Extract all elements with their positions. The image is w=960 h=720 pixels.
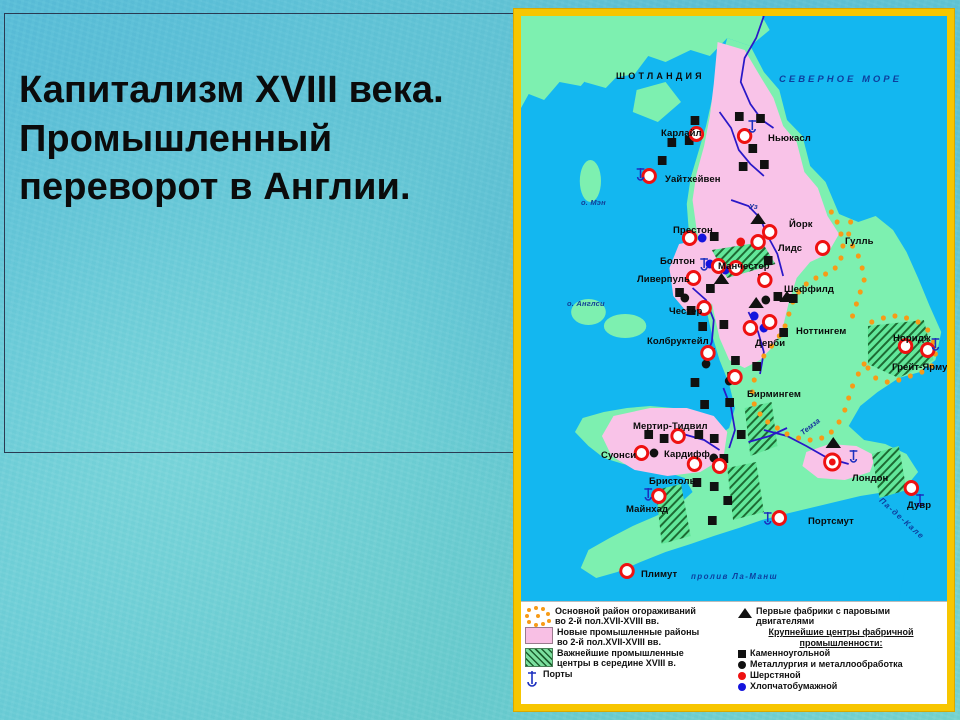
map-city-label: Суонси [601, 450, 636, 461]
map-city-label: Бристоль [649, 476, 696, 487]
legend-column-left: Основной район огораживаний во 2-й пол.X… [525, 606, 734, 701]
legend-label-cotton: Хлопчатобумажной [750, 681, 837, 691]
map-city-label: Ноттингем [796, 326, 846, 337]
green-hatch-swatch-icon [525, 648, 553, 667]
map-island-anglesey: о. Англси [567, 299, 605, 308]
map-city-label: Престон [673, 225, 713, 236]
legend-label-enclosures: Основной район огораживаний во 2-й пол.X… [555, 606, 696, 626]
cotton-circle-icon [738, 683, 746, 691]
legend-item-cotton: Хлопчатобумажной [738, 681, 944, 691]
legend-label-coal: Каменноугольной [750, 648, 830, 658]
legend-item-enclosures: Основной район огораживаний во 2-й пол.X… [525, 606, 734, 626]
metallurgy-circle-icon [738, 661, 746, 669]
map-region-scotland: ШОТЛАНДИЯ [616, 71, 705, 81]
legend-item-key-industrial-centres: Важнейшие промышленные центры в середине… [525, 648, 734, 668]
legend-label-wool: Шерстяной [750, 670, 801, 680]
legend-item-new-industrial-regions: Новые промышленные районы во 2-й пол.XVI… [525, 627, 734, 647]
map-city-label: Гулль [845, 236, 874, 247]
legend-item-metallurgy: Металлургия и металлообработка [738, 659, 944, 669]
map-city-label: Бирмингем [747, 389, 801, 400]
map-city-label: Лидс [778, 243, 802, 254]
steam-factory-triangle-icon [738, 608, 752, 618]
map-city-label: Честер [669, 306, 702, 317]
map-city-label: Майнхад [626, 504, 668, 515]
map-legend: Основной район огораживаний во 2-й пол.X… [521, 601, 947, 704]
legend-heading-largest-centres: Крупнейшие центры фабричной промышленнос… [738, 627, 944, 648]
map-city-label: Болтон [660, 256, 695, 267]
map-city-label: Ливерпуль [637, 274, 690, 285]
map-drawing-surface [521, 16, 947, 601]
map-city-label: Норидж [893, 333, 931, 344]
map-image: ШОТЛАНДИЯ СЕВЕРНОЕ МОРЕ о. Мэн о. Англси… [521, 16, 947, 704]
legend-label-key-industrial-centres: Важнейшие промышленные центры в середине… [557, 648, 684, 668]
title-text-box: Капитализм XVIII века. Промышленный пере… [4, 13, 520, 453]
page-title: Капитализм XVIII века. Промышленный пере… [19, 66, 503, 212]
map-city-label: Карлайл [661, 128, 702, 139]
map-city-label: Шеффилд [784, 284, 834, 295]
map-city-label: Ньюкасл [768, 133, 811, 144]
coal-square-icon [738, 650, 746, 658]
map-city-label: Портсмут [808, 516, 854, 527]
enclosure-dots-swatch-icon [525, 606, 551, 626]
map-island-isle-of-man: о. Мэн [581, 198, 606, 207]
map-city-label: Йорк [789, 219, 813, 230]
legend-item-coal: Каменноугольной [738, 648, 944, 658]
map-city-label: Кардифф [664, 449, 710, 460]
map-sea-north-sea: СЕВЕРНОЕ МОРЕ [779, 74, 902, 85]
legend-item-wool: Шерстяной [738, 670, 944, 680]
map-frame: ШОТЛАНДИЯ СЕВЕРНОЕ МОРЕ о. Мэн о. Англси… [513, 8, 955, 712]
map-river-ouse: Уз [749, 202, 758, 211]
map-city-label: Мертир-Тидвил [633, 421, 708, 432]
map-city-label: Манчестер [718, 261, 770, 272]
map-strait-english-channel: пролив Ла-Манш [691, 572, 778, 581]
legend-column-right: Первые фабрики с паровыми двигателями Кр… [738, 606, 944, 701]
legend-item-ports: Порты [525, 669, 734, 688]
legend-item-steam-factories: Первые фабрики с паровыми двигателями [738, 606, 944, 626]
map-city-label: Плимут [641, 569, 677, 580]
legend-label-steam-factories: Первые фабрики с паровыми двигателями [756, 606, 944, 626]
map-city-label: Дерби [755, 338, 785, 349]
anchor-icon [525, 669, 539, 688]
legend-label-ports: Порты [543, 669, 572, 679]
legend-label-new-industrial-regions: Новые промышленные районы во 2-й пол.XVI… [557, 627, 699, 647]
wool-circle-icon [738, 672, 746, 680]
map-city-label: Грейт-Ярмут [892, 362, 947, 373]
map-city-label: Лондон [852, 473, 888, 484]
pink-area-swatch-icon [525, 627, 553, 644]
map-city-label: Колбруктейл [647, 336, 709, 347]
legend-label-metallurgy: Металлургия и металлообработка [750, 659, 903, 669]
map-city-label: Уайтхейвен [665, 174, 721, 185]
map-city-label: Дувр [907, 500, 931, 511]
